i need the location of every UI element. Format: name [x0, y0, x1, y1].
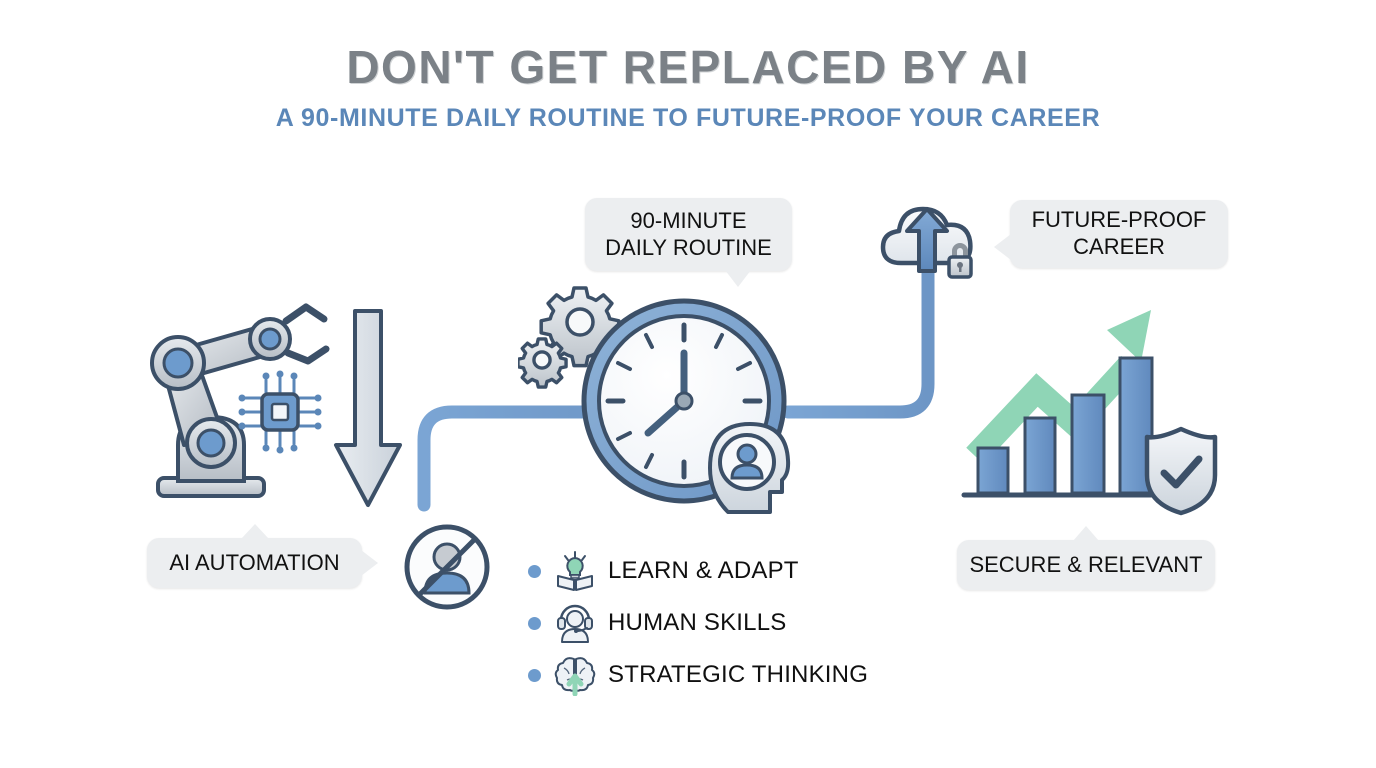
- callout-future-proof-line1: FUTURE-PROOF: [1032, 207, 1207, 232]
- shield-check-icon: [1141, 425, 1221, 517]
- cloud-upload-lock-icon: [875, 195, 995, 300]
- down-arrow-icon: [328, 305, 408, 515]
- callout-tail-top: [1073, 526, 1099, 541]
- callout-daily-routine-line1: 90-MINUTE: [630, 208, 746, 233]
- callout-daily-routine[interactable]: 90-MINUTE DAILY ROUTINE: [585, 198, 792, 271]
- callout-tail-top: [241, 524, 269, 539]
- page-title: DON'T GET REPLACED BY AI: [0, 40, 1376, 94]
- callout-secure-relevant[interactable]: SECURE & RELEVANT: [957, 540, 1215, 590]
- callout-future-proof-text: FUTURE-PROOF CAREER: [1032, 207, 1207, 261]
- callout-secure-relevant-label: SECURE & RELEVANT: [969, 552, 1202, 579]
- bar-2: [1025, 418, 1055, 493]
- callout-ai-automation-label: AI AUTOMATION: [169, 550, 339, 577]
- callout-future-proof-career[interactable]: FUTURE-PROOF CAREER: [1010, 200, 1228, 268]
- callout-daily-routine-line2: DAILY ROUTINE: [605, 235, 772, 260]
- callout-future-proof-line2: CAREER: [1073, 234, 1165, 259]
- callout-tail-left: [994, 234, 1011, 260]
- callout-daily-routine-text: 90-MINUTE DAILY ROUTINE: [605, 208, 772, 262]
- bullet-dot: [528, 617, 541, 630]
- bullet-dot: [528, 669, 541, 682]
- head-person-icon: [700, 418, 800, 518]
- cpu-chip-icon: [234, 366, 326, 458]
- page-subtitle: A 90-MINUTE DAILY ROUTINE TO FUTURE-PROO…: [0, 104, 1376, 133]
- list-item-label: HUMAN SKILLS: [608, 609, 786, 637]
- skills-list: LEARN & ADAPT HUMAN SKILLS: [528, 545, 868, 701]
- callout-ai-automation[interactable]: AI AUTOMATION: [147, 538, 362, 588]
- brain-arrow-icon: [554, 654, 596, 696]
- bar-3: [1072, 395, 1104, 493]
- list-item[interactable]: STRATEGIC THINKING: [528, 649, 868, 701]
- list-item[interactable]: HUMAN SKILLS: [528, 597, 868, 649]
- list-item-label: STRATEGIC THINKING: [608, 661, 868, 689]
- infographic-canvas: DON'T GET REPLACED BY AI A 90-MINUTE DAI…: [0, 0, 1376, 768]
- callout-tail-right: [361, 550, 378, 576]
- bar-1: [978, 448, 1008, 493]
- no-person-icon: [403, 523, 491, 611]
- book-lightbulb-icon: [554, 550, 596, 592]
- headset-person-icon: [554, 602, 596, 644]
- callout-tail-bottom: [725, 270, 751, 287]
- list-item[interactable]: LEARN & ADAPT: [528, 545, 868, 597]
- list-item-label: LEARN & ADAPT: [608, 557, 799, 585]
- bullet-dot: [528, 565, 541, 578]
